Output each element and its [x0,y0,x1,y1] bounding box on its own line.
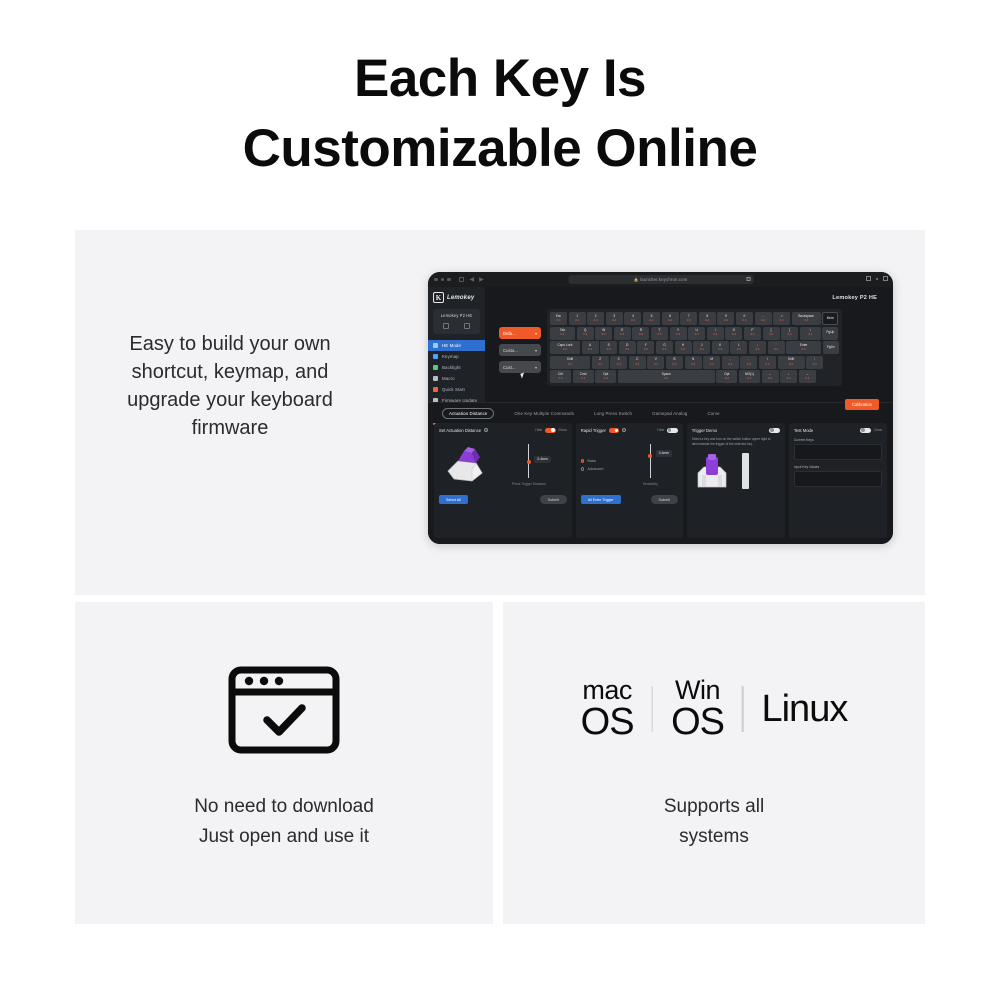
key-[interactable]: .0.4 [740,356,757,369]
tab-long-press-switch[interactable]: Long Press Switch [594,411,632,416]
actuation-slider-column[interactable]: 0.4mm Press Trigger Distance [491,439,567,491]
panel-footer: All Enter Trigger Submit [581,495,678,504]
key-actuation-value: 0.4 [598,363,602,367]
sidebar-label-he-mode: HE Mode [442,343,461,348]
bookmark-icon[interactable] [746,277,750,281]
trigger-demo-toggle[interactable] [769,428,780,434]
profile-buttons: Defa... ▾ Custo... ▾ Cust... ▾ [499,327,541,373]
macro-icon [433,376,438,381]
profile-custom2-label: Cust... [503,365,515,370]
key-actuation-value: 0.4 [559,377,563,381]
page-title: Each Key Is Customizable Online [0,44,1000,184]
actuation-slider-label: Press Trigger Distance [512,482,546,486]
key-9[interactable]: 90.4 [717,312,734,325]
panel-rapid-trigger: Rapid Trigger i Hide [576,423,683,538]
key-enter[interactable]: Enter0.4 [786,341,821,354]
info-icon[interactable]: i [484,428,488,432]
key-h[interactable]: H0.4 [675,341,692,354]
panel-body: 0.4mm Press Trigger Distance [439,439,567,491]
maximize-icon[interactable] [447,278,451,282]
key-[interactable]: \0.4 [800,327,821,340]
key-[interactable]: ]0.4 [781,327,798,340]
keyboard-row: Caps Lock0.4A0.4S0.4D0.4F0.4G0.4H0.4J0.4… [550,341,839,354]
key-actuation-value: 0.4 [774,348,778,352]
hide-show-toggle-group[interactable]: Hide Show [535,428,566,434]
supports-caption-line-1: Supports all [503,792,925,822]
info-icon[interactable]: i [622,428,626,432]
address-bar-url: launcher.keychron.com [640,277,687,282]
key-1[interactable]: 10.4 [569,312,586,325]
key-actuation-value: 0.4 [594,319,598,323]
key-opt[interactable]: Opt0.4 [595,370,616,383]
trigger-demo-body [692,449,780,489]
panel-header: Trigger Demo [692,428,780,434]
submit-button[interactable]: Submit [651,495,678,504]
key-v[interactable]: V0.4 [647,356,664,369]
key-z[interactable]: Z0.4 [592,356,609,369]
key-actuation-value: 0.4 [710,363,714,367]
trigger-demo-bar [742,453,749,489]
key-label: Mute [827,317,834,321]
key-actuation-value: 0.4 [789,363,793,367]
key-o[interactable]: O0.4 [725,327,742,340]
test-mode-toggle-group[interactable]: Clear [860,428,882,434]
supports-all-systems-caption: Supports all systems [503,792,925,852]
key-e[interactable]: E0.4 [614,327,631,340]
key-a[interactable]: A0.4 [582,341,599,354]
browser-check-icon [228,666,340,759]
app-brand: K Lemokey [428,287,485,309]
key-actuation-value: 0.4 [561,333,565,337]
profile-default-label: Defa... [503,331,516,336]
clear-label[interactable]: Clear [874,428,882,432]
key-pgup[interactable]: PgUp [822,327,838,340]
slider-knob[interactable] [527,460,531,464]
key-t[interactable]: T0.4 [651,327,668,340]
panel-title-text: Rapid Trigger [581,428,606,433]
key-shift[interactable]: Shift0.4 [778,356,805,369]
page-title-line-1: Each Key Is [354,49,646,108]
winos-logo: Win OS [671,677,724,741]
macos-logo: mac OS [581,677,634,741]
settings-panels: Set Actuation Distance i Hide Show [428,423,893,544]
sidebar-item-he-mode[interactable]: HE Mode [428,340,485,351]
no-download-caption-line-2: Just open and use it [75,822,493,852]
sidebar-item-backlight[interactable]: Backlight [428,362,485,373]
key-actuation-value: 0.4 [737,348,741,352]
radio-advanced-label: Advanced [587,467,603,471]
toggle-knob [668,428,672,432]
keyboard-row: Esc0.410.420.430.440.450.460.470.480.490… [550,312,839,325]
toggle-hide-label: Hide [535,428,542,432]
sidebar-label-backlight: Backlight [442,365,461,370]
key-u[interactable]: U0.4 [688,327,705,340]
key-actuation-value: 0.4 [575,319,579,323]
key-8[interactable]: 80.4 [699,312,716,325]
feature-tabs: Actuation Distance One Key Multiple Comm… [428,402,893,422]
key-2[interactable]: 20.4 [587,312,604,325]
sidebar-toggle-icon[interactable] [459,277,464,282]
panel-title: Test Mode [794,428,813,433]
key-actuation-value: 0.4 [568,363,572,367]
key-b[interactable]: B0.4 [666,356,683,369]
key-actuation-value: 0.4 [700,348,704,352]
launcher-app: K Lemokey Lemokey P2 HE HE Mode [428,287,893,544]
key-6[interactable]: 60.4 [662,312,679,325]
no-download-caption: No need to download Just open and use it [75,792,493,852]
key-actuation-value: 0.4 [625,348,629,352]
key-actuation-value: 0.4 [676,333,680,337]
sidebar-label-quick-start: Quick Start [442,387,465,392]
key-n[interactable]: N0.4 [685,356,702,369]
key-q[interactable]: Q0.4 [577,327,594,340]
key-p[interactable]: P0.4 [744,327,761,340]
brand-name: Lemokey [447,295,474,301]
mouse-cursor-icon [520,372,525,378]
usb-icon [443,323,449,329]
key-mute[interactable]: Mute [822,312,838,325]
key-7[interactable]: 70.4 [680,312,697,325]
key-actuation-value: 0.4 [732,333,736,337]
key-label: PgUp [826,331,834,335]
device-connection-icons [436,323,477,329]
key-[interactable]: ↓0.4 [780,370,797,383]
actuation-value-bubble: 0.4mm [534,456,550,463]
calibration-button[interactable]: Calibration [845,399,879,410]
toggle-knob [551,428,555,432]
key-actuation-value: 0.4 [787,377,791,381]
key-actuation-value: 0.4 [639,333,643,337]
key-cmd[interactable]: Cmd0.4 [573,370,594,383]
key-5[interactable]: 50.4 [643,312,660,325]
panel-header: Rapid Trigger i Hide [581,428,678,434]
key-actuation-value: 0.4 [658,333,662,337]
profile-custom1-button[interactable]: Custo... ▾ [499,344,541,356]
toggle-knob [770,428,774,432]
current-keys-label: Current Keys [794,438,882,442]
sidebar-item-macro[interactable]: Macro [428,373,485,384]
input-keys-label: Input Key Values [794,465,882,469]
key-[interactable]: ,0.4 [722,356,739,369]
key-c[interactable]: C0.4 [629,356,646,369]
key-actuation-value: 0.4 [617,363,621,367]
he-switch-icon [442,445,488,485]
key-[interactable]: ;0.4 [749,341,766,354]
key-actuation-value: 0.4 [588,348,592,352]
key-[interactable]: '0.4 [768,341,785,354]
chevron-down-icon: ▾ [535,365,537,370]
winos-logo-bottom: OS [671,703,724,741]
key-actuation-value: 0.4 [620,333,624,337]
app-main: K Lemokey Lemokey P2 HE HE Mode [428,287,893,402]
page-title-line-2: Customizable Online [0,114,1000,184]
winos-logo-top: Win [675,677,720,704]
toggle-knob [861,428,865,432]
panel-trigger-demo: Trigger Demo Select a key and turn on th… [687,423,785,538]
key-actuation-value: 0.4 [755,348,759,352]
key-actuation-value: 0.4 [802,348,806,352]
radio-advanced[interactable]: Advanced [581,467,623,471]
key-[interactable]: -0.4 [755,312,772,325]
key-caps-lock[interactable]: Caps Lock0.4 [550,341,580,354]
key-label: PgDn [827,346,835,350]
key-f[interactable]: F0.4 [637,341,654,354]
key-actuation-value: 0.4 [635,363,639,367]
minimize-icon[interactable] [441,278,445,282]
key-backspace[interactable]: Backspace0.4 [792,312,821,325]
key-actuation-value: 0.4 [557,319,561,323]
sensitivity-slider-column[interactable]: 0.4mm Sensitivity [623,439,678,491]
key-m[interactable]: M0.4 [703,356,720,369]
key-actuation-value: 0.4 [725,377,729,381]
panel-title-text: Set Actuation Distance [439,428,481,433]
actuation-distance-slider[interactable]: 0.4mm [528,444,529,478]
key-actuation-value: 0.4 [813,363,817,367]
sensitivity-slider-label: Sensitivity [643,482,658,486]
browser-toolbar-right[interactable] [866,276,888,281]
share-icon[interactable] [866,276,871,281]
panel-title: Trigger Demo [692,428,717,433]
key-actuation-value: 0.4 [691,363,695,367]
keyboard-title: Lemokey P2 HE [832,295,877,301]
keyboard-row: Tab0.4Q0.4W0.4E0.4R0.4T0.4Y0.4U0.4I0.4O0… [550,327,839,340]
panel-header: Set Actuation Distance i Hide Show [439,428,567,434]
key-esc[interactable]: Esc0.4 [550,312,567,325]
supports-caption-line-2: systems [503,822,925,852]
key-actuation-value: 0.4 [761,319,765,323]
feature-card-no-download: No need to download Just open and use it [75,602,493,924]
actuation-visibility-toggle[interactable] [545,428,556,434]
key-actuation-value: 0.4 [563,348,567,352]
panel-title: Set Actuation Distance i [439,428,488,433]
key-w[interactable]: W0.4 [595,327,612,340]
os-divider [742,686,744,732]
key-i[interactable]: I0.4 [707,327,724,340]
key-pgdn[interactable]: PgDn [823,341,839,354]
key-k[interactable]: K0.4 [712,341,729,354]
key-3[interactable]: 30.4 [606,312,623,325]
key-actuation-value: 0.4 [673,363,677,367]
key-[interactable]: ←0.4 [762,370,779,383]
submit-button[interactable]: Submit [540,495,567,504]
radio-basic[interactable]: Basic [581,459,623,463]
key-actuation-value: 0.4 [765,363,769,367]
key-actuation-value: 0.4 [664,377,668,381]
new-tab-icon[interactable] [883,276,888,281]
key-actuation-value: 0.4 [804,319,808,323]
panel-body: Basic Advanced 0.4mm [581,439,678,491]
toggle-show-label: Show [558,428,566,432]
sidebar-item-quick-start[interactable]: Quick Start [428,384,485,395]
key-actuation-value: 0.4 [663,348,667,352]
feature-card-supports-all-systems: mac OS Win OS Linux Supports all systems [503,602,925,924]
back-arrow-icon[interactable]: ◀ [470,277,475,283]
macos-logo-bottom: OS [581,703,634,741]
switch-render-image [439,439,491,491]
window-traffic-lights[interactable] [434,278,451,282]
key-[interactable]: =0.4 [773,312,790,325]
select-all-button[interactable]: Select All [439,495,468,504]
browser-nav-arrows[interactable]: ◀ ▶ [470,277,484,283]
key-actuation-value: 0.4 [650,319,654,323]
no-download-caption-line-1: No need to download [75,792,493,822]
panel-header: Test Mode Clear [794,428,882,434]
close-icon[interactable] [434,278,438,282]
key-actuation-value: 0.4 [718,348,722,352]
keyboard-row: Shift0.4Z0.4X0.4C0.4V0.4B0.4N0.4M0.4,0.4… [550,356,839,369]
key-actuation-value: 0.4 [780,319,784,323]
key-actuation-value: 0.4 [602,333,606,337]
launcher-app-screenshot: ◀ ▶ 🔒 launcher.keychron.com K [428,272,893,544]
address-bar[interactable]: 🔒 launcher.keychron.com [568,275,753,284]
promo-page: Each Key Is Customizable Online Easy to … [0,0,1000,1000]
os-logo-row: mac OS Win OS Linux [581,677,848,741]
hide-toggle-group[interactable]: Hide [657,428,677,434]
profile-custom1-label: Custo... [503,348,518,353]
chevron-down-icon: ▾ [535,331,537,336]
key-actuation-value: 0.4 [612,319,616,323]
key-actuation-value: 0.4 [681,348,685,352]
key-actuation-value: 0.4 [728,363,732,367]
key-opt[interactable]: Opt0.4 [716,370,737,383]
tab-one-key-multiple-commands[interactable]: One Key Multiple Commands [514,411,574,416]
key-[interactable]: ↑0.4 [806,356,823,369]
more-options-icon[interactable] [876,278,878,280]
tab-gamepad-analog[interactable]: Gamepad Analog [652,411,687,416]
key-actuation-value: 0.4 [644,348,648,352]
key-actuation-value: 0.4 [750,333,754,337]
chevron-down-icon: ▾ [535,348,537,353]
rapid-trigger-toggle[interactable] [609,428,619,433]
app-content: Lemokey P2 HE Defa... ▾ Custo... ▾ Cust.… [485,287,893,402]
key-actuation-value: 0.4 [713,333,717,337]
app-sidebar: K Lemokey Lemokey P2 HE HE Mode [428,287,485,402]
forward-arrow-icon[interactable]: ▶ [479,277,484,283]
key-actuation-value: 0.4 [607,348,611,352]
radio-icon [581,467,585,471]
profile-default-button[interactable]: Defa... ▾ [499,327,541,339]
key-actuation-value: 0.4 [742,319,746,323]
radio-basic-label: Basic [587,459,596,463]
key-[interactable]: →0.4 [799,370,816,383]
toggle-knob [615,429,618,432]
key-actuation-value: 0.4 [788,333,792,337]
key-j[interactable]: J0.4 [693,341,710,354]
key-4[interactable]: 40.4 [624,312,641,325]
key-actuation-value: 0.4 [705,319,709,323]
key-ctrl[interactable]: Ctrl0.4 [550,370,571,383]
linux-logo: Linux [761,690,847,728]
input-keys-field[interactable] [794,471,882,487]
key-actuation-value: 0.4 [748,377,752,381]
key-r[interactable]: R0.4 [632,327,649,340]
tab-curve[interactable]: Curve [707,411,719,416]
he-mode-icon [433,343,438,348]
bluetooth-icon [464,323,470,329]
sidebar-label-keymap: Keymap [442,354,459,359]
key-actuation-value: 0.4 [724,319,728,323]
browser-tab-controls[interactable] [459,277,464,282]
key-actuation-value: 0.4 [768,377,772,381]
slider-knob[interactable] [648,454,652,458]
he-switch-front-icon [692,453,732,489]
radio-icon [581,459,585,463]
key-actuation-value: 0.4 [654,363,658,367]
key-d[interactable]: D0.4 [619,341,636,354]
sensitivity-slider[interactable]: 0.4mm [650,444,651,478]
key-0[interactable]: 00.4 [736,312,753,325]
panel-title: Rapid Trigger i [581,428,626,433]
sensitivity-value-bubble: 0.4mm [656,450,672,457]
key-actuation-value: 0.4 [769,333,773,337]
lock-icon: 🔒 [634,277,639,282]
key-[interactable]: [0.4 [763,327,780,340]
panel-test-mode: Test Mode Clear Current Keys Input Key V… [789,423,887,538]
trigger-demo-description: Select a key and turn on the switch butt… [692,437,780,446]
panel-actuation-distance: Set Actuation Distance i Hide Show [434,423,572,538]
key-actuation-value: 0.4 [805,377,809,381]
key-actuation-value: 0.4 [631,319,635,323]
key-actuation-value: 0.4 [668,319,672,323]
key-actuation-value: 0.4 [808,333,812,337]
panel-footer: Select All Submit [439,495,567,504]
key-shift[interactable]: Shift0.4 [550,356,590,369]
key-x[interactable]: X0.4 [610,356,627,369]
sidebar-label-macro: Macro [442,376,455,381]
key-[interactable]: /0.4 [759,356,776,369]
key-actuation-value: 0.4 [604,377,608,381]
connected-device-card[interactable]: Lemokey P2 HE [433,309,480,334]
macos-logo-top: mac [582,677,632,704]
profile-custom2-button[interactable]: Cust... ▾ [499,361,541,373]
key-tab[interactable]: Tab0.4 [550,327,575,340]
key-mo-1[interactable]: MO(1)0.4 [739,370,760,383]
keyboard-layout[interactable]: Esc0.410.420.430.440.450.460.470.480.490… [547,309,842,386]
toggle-hide-label: Hide [657,428,664,432]
current-keys-field[interactable] [794,444,882,460]
key-space[interactable]: Space0.4 [618,370,715,383]
keyboard-row: Ctrl0.4Cmd0.4Opt0.4Space0.4Opt0.4MO(1)0.… [550,370,839,383]
tab-actuation-distance[interactable]: Actuation Distance [442,408,494,418]
device-name: Lemokey P2 HE [436,313,477,318]
os-divider [652,686,654,732]
quick-start-icon [433,387,438,392]
all-enter-trigger-button[interactable]: All Enter Trigger [581,495,621,504]
key-s[interactable]: S0.4 [600,341,617,354]
key-actuation-value: 0.4 [687,319,691,323]
key-actuation-value: 0.4 [747,363,751,367]
rapid-trigger-mode-group[interactable]: Basic Advanced [581,439,623,491]
browser-chrome: ◀ ▶ 🔒 launcher.keychron.com [428,272,893,287]
rapid-visibility-toggle[interactable] [667,428,678,434]
key-actuation-value: 0.4 [583,333,587,337]
keymap-icon [433,354,438,359]
key-y[interactable]: Y0.4 [670,327,687,340]
key-actuation-value: 0.4 [695,333,699,337]
key-actuation-value: 0.4 [581,377,585,381]
test-mode-toggle[interactable] [860,428,871,434]
sidebar-item-keymap[interactable]: Keymap [428,351,485,362]
backlight-icon [433,365,438,370]
key-l[interactable]: L0.4 [730,341,747,354]
lemokey-logo-icon: K [433,292,444,303]
key-g[interactable]: G0.4 [656,341,673,354]
feature-copy-text: Easy to build your own shortcut, keymap,… [95,330,365,442]
